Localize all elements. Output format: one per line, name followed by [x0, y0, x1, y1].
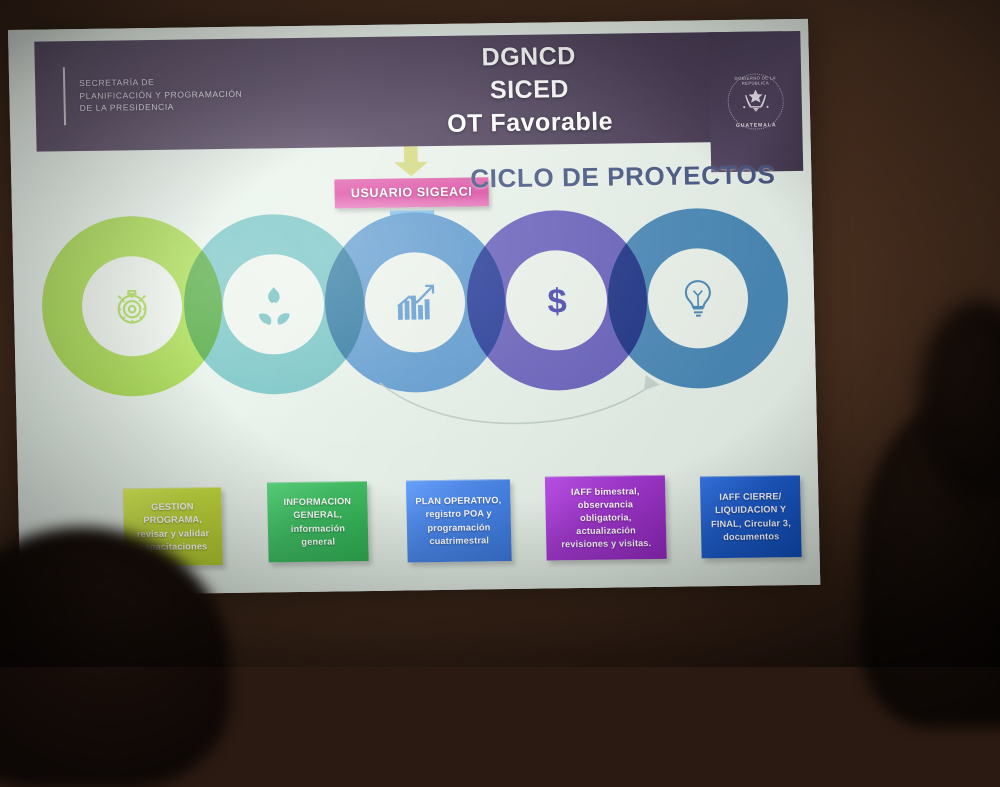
projection-screen: SECRETARÍA DE PLANIFICACIÓN Y PROGRAMACI…: [8, 19, 820, 596]
svg-text:$: $: [547, 283, 567, 321]
project-cycle-chain: $: [40, 207, 791, 437]
lightbulb-icon: [661, 262, 735, 335]
arrow-down-icon-top: [394, 146, 429, 176]
brand-divider: [63, 67, 66, 125]
label-iaff-bimestral[interactable]: IAFF bimestral, observancia obligatoria,…: [545, 475, 667, 561]
curved-flow-arrow-icon: [373, 359, 675, 443]
label-iaff-bimestral-text: IAFF bimestral, observancia obligatoria,…: [551, 485, 660, 552]
seal-country-text: GUATEMALA: [728, 122, 784, 129]
usuario-sigeaci-banner[interactable]: USUARIO SIGEACI: [335, 177, 489, 208]
brand-line-3: DE LA PRESIDENCIA: [80, 100, 243, 115]
title-line-1: DGNCD: [481, 40, 576, 74]
title-line-2: SICED: [490, 73, 570, 107]
recycle-leaves-icon: [237, 268, 311, 341]
segeplan-brand: SECRETARÍA DE PLANIFICACIÓN Y PROGRAMACI…: [34, 38, 286, 151]
page-title: CICLO DE PROYECTOS: [470, 159, 776, 194]
dollar-sign-icon: $: [520, 264, 594, 337]
guatemala-coat-of-arms-icon: GOBIERNO DE LA REPÚBLICA GUATEMALA: [727, 73, 784, 130]
label-plan-operativo[interactable]: PLAN OPERATIVO, registro POA y programac…: [406, 479, 512, 562]
quetzal-emblem-icon: [738, 84, 773, 118]
brand-text: SECRETARÍA DE PLANIFICACIÓN Y PROGRAMACI…: [79, 74, 243, 115]
label-informacion-general-text: INFORMACION GENERAL, información general: [273, 495, 362, 548]
label-iaff-cierre-text: IAFF CIERRE/ LIQUIDACION Y FINAL, Circul…: [706, 490, 795, 543]
label-informacion-general[interactable]: INFORMACION GENERAL, información general: [267, 481, 369, 562]
label-plan-operativo-text: PLAN OPERATIVO, registro POA y programac…: [412, 494, 505, 548]
government-logo-panel: GOBIERNO DE LA REPÚBLICA GUATEMALA: [708, 31, 803, 172]
usuario-sigeaci-label: USUARIO SIGEACI: [351, 185, 473, 201]
presentation-slide: SECRETARÍA DE PLANIFICACIÓN Y PROGRAMACI…: [8, 19, 820, 596]
label-iaff-cierre[interactable]: IAFF CIERRE/ LIQUIDACION Y FINAL, Circul…: [700, 475, 802, 558]
bar-chart-trend-icon: [378, 266, 452, 339]
gear-stopwatch-icon: [95, 270, 169, 343]
title-line-3: OT Favorable: [447, 105, 613, 140]
slide-header: SECRETARÍA DE PLANIFICACIÓN Y PROGRAMACI…: [34, 31, 784, 151]
